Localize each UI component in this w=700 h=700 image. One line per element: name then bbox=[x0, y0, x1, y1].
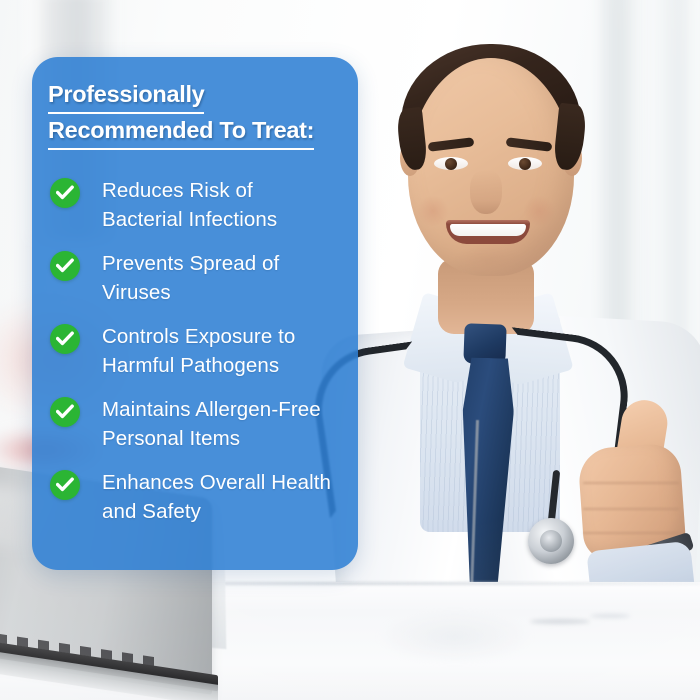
hair-sideburn-right bbox=[553, 103, 588, 172]
list-item: Prevents Spread of Viruses bbox=[50, 249, 348, 307]
teeth bbox=[450, 224, 526, 236]
thumbs-up-hand bbox=[575, 400, 695, 585]
eye-right bbox=[508, 157, 542, 170]
pupil-right bbox=[519, 158, 531, 170]
desk-papers bbox=[380, 612, 530, 662]
cheek-left bbox=[416, 196, 450, 226]
desk-mark-1 bbox=[530, 619, 590, 624]
benefits-list: Reduces Risk of Bacterial Infections Pre… bbox=[50, 176, 348, 541]
heading-line-2: Recommended To Treat: bbox=[48, 114, 314, 150]
check-icon bbox=[50, 251, 80, 281]
check-icon bbox=[50, 470, 80, 500]
chin bbox=[452, 244, 524, 276]
heading-line-1: Professionally bbox=[48, 78, 204, 114]
benefits-panel: Professionally Recommended To Treat: Red… bbox=[32, 57, 358, 570]
panel-heading: Professionally Recommended To Treat: bbox=[48, 78, 348, 150]
desk-mark-2 bbox=[590, 614, 630, 618]
smiling-mouth bbox=[446, 220, 530, 244]
stethoscope-chestpiece bbox=[528, 518, 574, 564]
list-item-label: Controls Exposure to Harmful Pathogens bbox=[102, 322, 334, 380]
list-item-label: Reduces Risk of Bacterial Infections bbox=[102, 176, 334, 234]
eye-left bbox=[434, 157, 468, 170]
promo-graphic: Professionally Recommended To Treat: Red… bbox=[0, 0, 700, 700]
list-item: Reduces Risk of Bacterial Infections bbox=[50, 176, 348, 234]
list-item: Enhances Overall Health and Safety bbox=[50, 468, 348, 526]
check-icon bbox=[50, 178, 80, 208]
pupil-left bbox=[445, 158, 457, 170]
check-icon bbox=[50, 324, 80, 354]
list-item: Controls Exposure to Harmful Pathogens bbox=[50, 322, 348, 380]
knuckle-line-1 bbox=[583, 482, 679, 484]
list-item-label: Prevents Spread of Viruses bbox=[102, 249, 334, 307]
check-icon bbox=[50, 397, 80, 427]
nose bbox=[470, 170, 502, 214]
knuckle-line-2 bbox=[583, 508, 679, 510]
list-item-label: Enhances Overall Health and Safety bbox=[102, 468, 334, 526]
list-item-label: Maintains Allergen-Free Personal Items bbox=[102, 395, 334, 453]
list-item: Maintains Allergen-Free Personal Items bbox=[50, 395, 348, 453]
knuckle-line-3 bbox=[583, 532, 679, 534]
